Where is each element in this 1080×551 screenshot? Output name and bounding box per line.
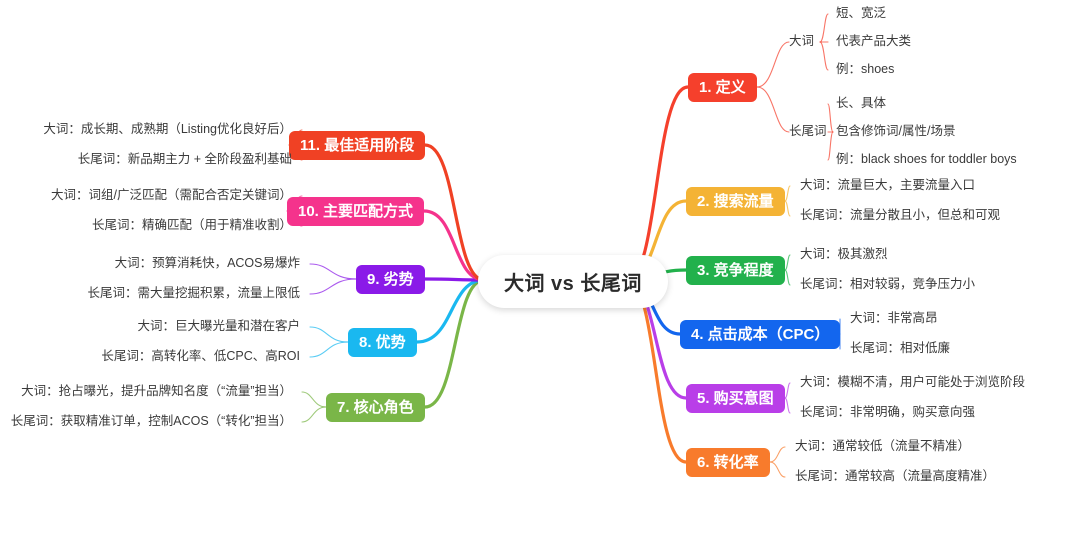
- leaf-item: 长尾词：非常明确，购买意向强: [800, 406, 975, 419]
- branch-node-disadvantages[interactable]: 9. 劣势: [356, 265, 425, 294]
- leaf-item: 大词：抢占曝光，提升品牌知名度（“流量”担当）: [21, 385, 292, 398]
- leaf-item: 长尾词：相对较弱，竞争压力小: [800, 278, 975, 291]
- center-node[interactable]: 大词 vs 长尾词: [478, 255, 668, 308]
- leaf-item: 短、宽泛: [836, 7, 886, 20]
- leaf-item: 代表产品大类: [836, 35, 911, 48]
- leaf-item: 大词：非常高昂: [850, 312, 938, 325]
- subnode-label: 大词: [789, 35, 814, 48]
- leaf-item: 大词：预算消耗快，ACOS易爆炸: [115, 257, 300, 270]
- branch-node-search-traffic[interactable]: 2. 搜索流量: [686, 187, 785, 216]
- leaf-item: 长、具体: [836, 97, 886, 110]
- leaf-item: 长尾词：高转化率、低CPC、高ROI: [101, 350, 300, 363]
- leaf-item: 大词：流量巨大，主要流量入口: [800, 179, 975, 192]
- leaf-item: 长尾词：精确匹配（用于精准收割）: [92, 219, 292, 232]
- branch-node-competition[interactable]: 3. 竞争程度: [686, 256, 785, 285]
- subnode-label: 长尾词: [789, 125, 827, 138]
- leaf-item: 大词：极其激烈: [800, 248, 888, 261]
- leaf-item: 长尾词：获取精准订单，控制ACOS（“转化”担当）: [11, 415, 292, 428]
- leaf-item: 大词：巨大曝光量和潜在客户: [137, 320, 300, 333]
- leaf-item: 长尾词：通常较高（流量高度精准）: [795, 470, 995, 483]
- mindmap-canvas: 大词 vs 长尾词1. 定义大词短、宽泛代表产品大类例：shoes长尾词长、具体…: [0, 0, 1080, 551]
- branch-node-best-stage[interactable]: 11. 最佳适用阶段: [289, 131, 425, 160]
- leaf-item: 长尾词：流量分散且小，但总和可观: [800, 209, 1000, 222]
- branch-node-conversion-rate[interactable]: 6. 转化率: [686, 448, 770, 477]
- leaf-item: 大词：词组/广泛匹配（需配合否定关键词）: [51, 189, 292, 202]
- branch-node-purchase-intent[interactable]: 5. 购买意图: [686, 384, 785, 413]
- leaf-item: 长尾词：相对低廉: [850, 342, 950, 355]
- leaf-item: 长尾词：新品期主力 + 全阶段盈利基础: [78, 153, 292, 166]
- leaf-item: 长尾词：需大量挖掘积累，流量上限低: [87, 287, 300, 300]
- leaf-item: 大词：模糊不清，用户可能处于浏览阶段: [800, 376, 1025, 389]
- leaf-item: 包含修饰词/属性/场景: [836, 125, 955, 138]
- leaf-item: 例：shoes: [836, 63, 894, 76]
- branch-node-advantages[interactable]: 8. 优势: [348, 328, 417, 357]
- branch-node-cpc[interactable]: 4. 点击成本（CPC）: [680, 320, 840, 349]
- branch-node-core-role[interactable]: 7. 核心角色: [326, 393, 425, 422]
- branch-node-definition[interactable]: 1. 定义: [688, 73, 757, 102]
- leaf-item: 大词：通常较低（流量不精准）: [795, 440, 970, 453]
- leaf-item: 大词：成长期、成熟期（Listing优化良好后）: [43, 123, 292, 136]
- leaf-item: 例：black shoes for toddler boys: [836, 153, 1017, 166]
- branch-node-match-type[interactable]: 10. 主要匹配方式: [287, 197, 424, 226]
